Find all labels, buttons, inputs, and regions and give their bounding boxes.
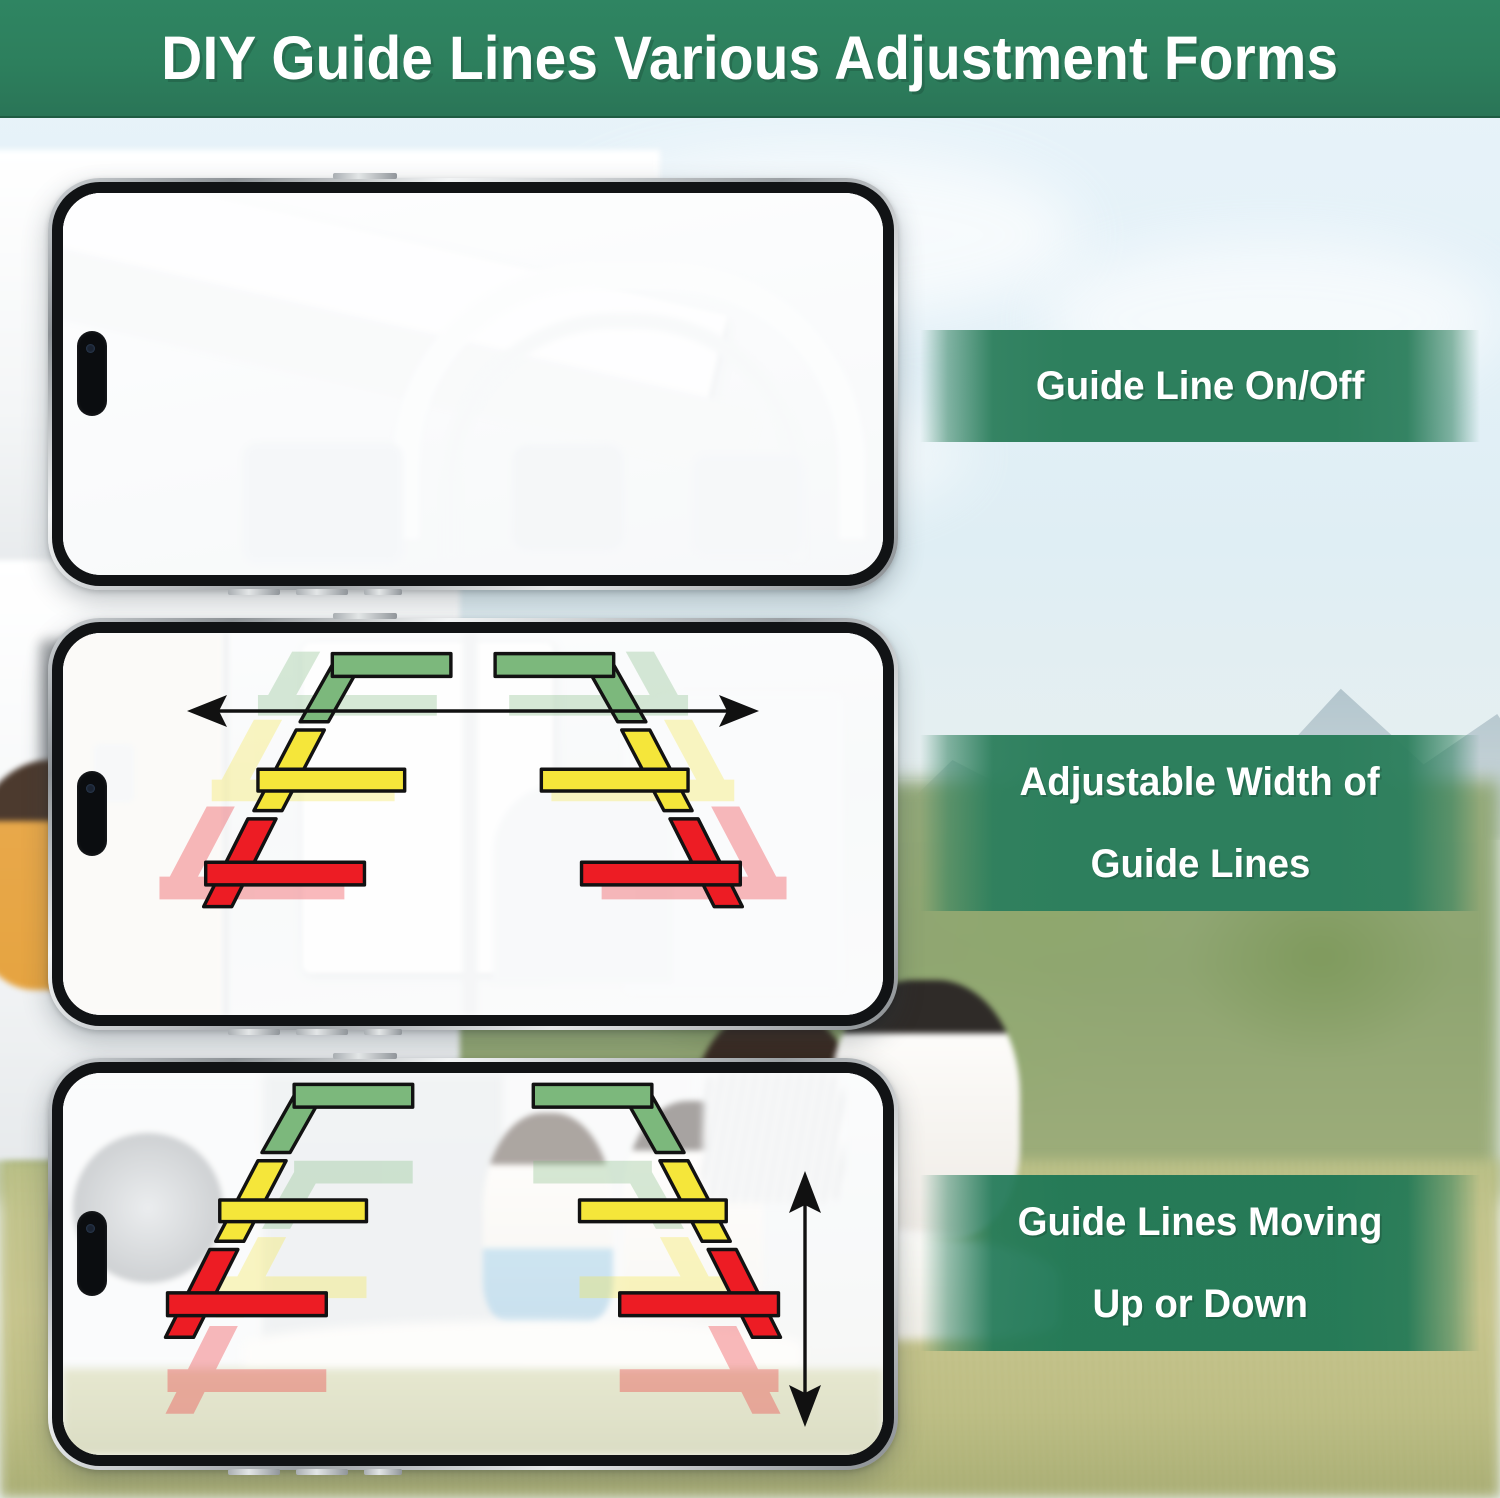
phone-button-bottom-1 [228,1469,280,1475]
guide-crossbar-red-right [620,1293,779,1316]
width-adjust-arrow [183,689,763,733]
guide-crossbar-green-right [495,654,614,677]
page-title: DIY Guide Lines Various Adjustment Forms [162,23,1339,93]
feature-label-2-line-2: Guide Lines [1090,823,1310,905]
phone-button-bottom-3 [364,1029,402,1035]
phone-bezel-1 [52,182,894,586]
guide-crossbar-red-right [582,862,741,885]
phone-screen-2 [63,633,883,1015]
phone-button-top [333,613,397,619]
phone-mockup-2 [48,618,898,1030]
phone-button-bottom-1 [228,1029,280,1035]
guide-crossbar-yellow-left [220,1200,367,1222]
page-header: DIY Guide Lines Various Adjustment Forms [0,0,1500,118]
phone-screen-1 [63,193,883,575]
feature-label-2-line-1: Adjustable Width of [1020,741,1380,823]
guide-lines-overlay-3 [63,1073,883,1455]
phone-mockup-3 [48,1058,898,1470]
guide-crossbar-green-left [294,1084,413,1107]
camera-view-1 [63,193,883,575]
phone-button-top [333,173,397,179]
phone-bezel-2 [52,622,894,1026]
guide-crossbar-yellow-right [580,1200,727,1222]
feature-label-2: Adjustable Width of Guide Lines [920,735,1480,911]
phone-button-bottom-3 [364,1469,402,1475]
camera-overlay-wash [63,193,883,575]
feature-label-3: Guide Lines Moving Up or Down [920,1175,1480,1351]
feature-label-1-line-1: Guide Line On/Off [1036,364,1365,409]
height-adjust-arrow [781,1169,829,1429]
guide-crossbar-green-left [332,654,451,677]
active-guide-lines [166,1084,781,1337]
phone-button-bottom-3 [364,589,402,595]
feature-label-3-line-2: Up or Down [1092,1263,1307,1345]
phone-bezel-3 [52,1062,894,1466]
guide-crossbar-red-left [206,862,365,885]
feature-label-1: Guide Line On/Off [920,330,1480,442]
guide-crossbar-green-right [533,1084,652,1107]
guide-crossbar-yellow-right [541,769,688,791]
phone-button-bottom-1 [228,589,280,595]
phone-screen-3 [63,1073,883,1455]
phone-button-top [333,1053,397,1059]
phone-mockup-1 [48,178,898,590]
feature-label-3-line-1: Guide Lines Moving [1018,1181,1383,1263]
phone-button-bottom-2 [296,589,348,595]
guide-crossbar-yellow-left [258,769,405,791]
phone-button-bottom-2 [296,1029,348,1035]
guide-crossbar-red-left [168,1293,327,1316]
dynamic-island-notch-1 [77,331,107,416]
phone-button-bottom-2 [296,1469,348,1475]
